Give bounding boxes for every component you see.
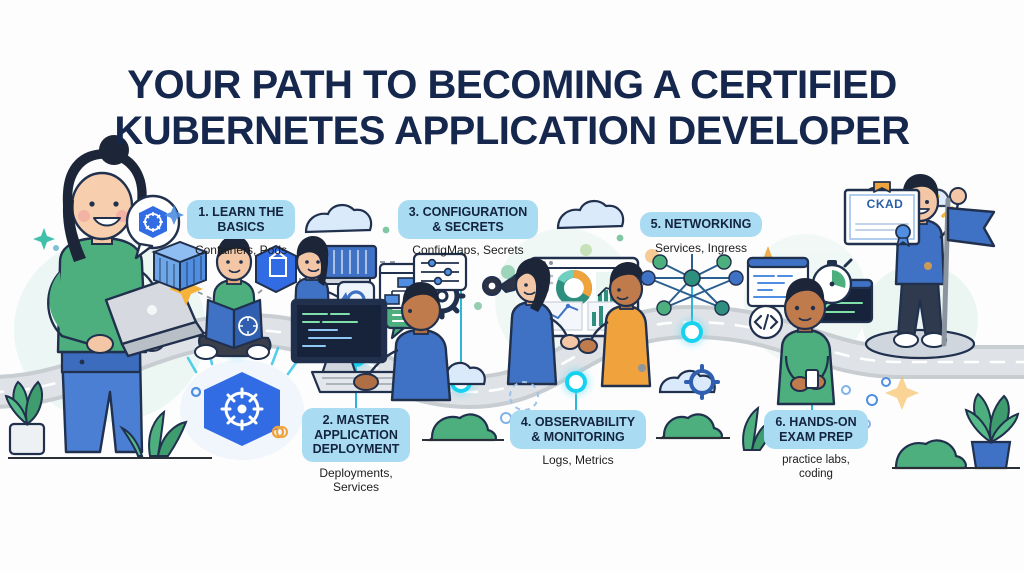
step-2-label: 2. MASTER APPLICATION DEPLOYMENT (302, 408, 411, 462)
step-5-networking[interactable]: 5. NETWORKING Services, Ingress (638, 212, 764, 255)
step-4-subtitle: Logs, Metrics (504, 453, 652, 467)
step-1-subtitle: Containers, Pods (176, 243, 306, 257)
step-3-subtitle: ConfigMaps, Secrets (394, 243, 542, 257)
step-6-subtitle: practice labs, coding (756, 453, 876, 481)
step-6-label: 6. HANDS-ON EXAM PREP (764, 410, 867, 449)
step-5-subtitle: Services, Ingress (638, 241, 764, 255)
ckad-certificate-label: CKAD (855, 197, 915, 211)
step-4-observability-and-monitoring[interactable]: 4. OBSERVABILITY & MONITORING Logs, Metr… (504, 410, 652, 467)
step-4-label: 4. OBSERVABILITY & MONITORING (510, 410, 646, 449)
step-3-configuration-and-secrets[interactable]: 3. CONFIGURATION & SECRETS ConfigMaps, S… (394, 200, 542, 257)
step-1-learn-the-basics[interactable]: 1. LEARN THE BASICS Containers, Pods (176, 200, 306, 257)
illustration-layer (0, 0, 1024, 572)
step-1-label: 1. LEARN THE BASICS (187, 200, 294, 239)
step-2-subtitle: Deployments, Services (292, 466, 420, 494)
step-3-label: 3. CONFIGURATION & SECRETS (398, 200, 539, 239)
step-6-hands-on-exam-prep[interactable]: 6. HANDS-ON EXAM PREP practice labs, cod… (756, 410, 876, 481)
code-tag-icon (750, 306, 782, 338)
infographic-canvas: YOUR PATH TO BECOMING A CERTIFIED KUBERN… (0, 0, 1024, 572)
step-5-label: 5. NETWORKING (640, 212, 763, 237)
step-2-master-application-deployment[interactable]: 2. MASTER APPLICATION DEPLOYMENT Deploym… (292, 408, 420, 494)
code-monitor (292, 300, 386, 374)
ckad-certificate (845, 182, 919, 246)
plant-right (966, 394, 1018, 468)
